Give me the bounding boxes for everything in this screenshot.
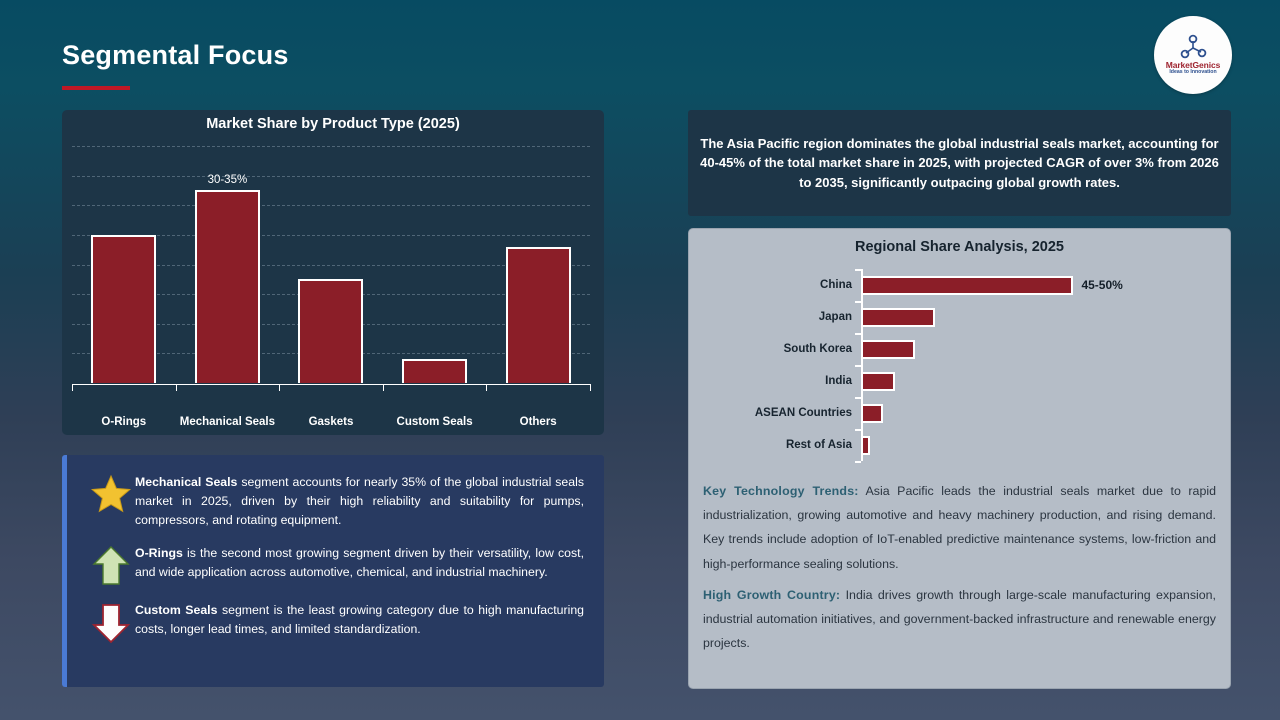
regional-bar[interactable] [861,340,915,359]
regional-analysis-panel: Regional Share Analysis, 2025 China45-50… [688,228,1231,689]
regional-bar-label: South Korea [703,343,861,355]
bar-column[interactable] [385,146,483,383]
segment-insights-panel: Mechanical Seals segment accounts for ne… [62,455,604,687]
bar-value-label: 30-35% [208,174,248,186]
insight-lead: Mechanical Seals [135,475,237,489]
bar-column[interactable] [75,146,173,383]
paragraph-lead: Key Technology Trends: [703,484,859,498]
regional-bar-track [861,365,1216,397]
regional-bar-row[interactable]: India [703,365,1216,397]
x-axis-label: Custom Seals [385,415,483,429]
insight-item: Mechanical Seals segment accounts for ne… [87,473,592,531]
bar[interactable] [91,235,156,383]
x-axis-ticks [72,384,590,391]
page-title: Segmental Focus [62,40,289,71]
right-paragraph: High Growth Country: India drives growth… [703,583,1216,656]
regional-bar[interactable] [861,404,883,423]
regional-bar-label: Japan [703,311,861,323]
x-axis-label: Mechanical Seals [178,415,276,429]
x-axis-label: O-Rings [75,415,173,429]
paragraph-lead: High Growth Country: [703,588,840,602]
bar[interactable] [195,190,260,383]
regional-bar-row[interactable]: Rest of Asia [703,429,1216,461]
regional-bar-label: China [703,279,861,291]
y-axis-tick [855,461,861,463]
regional-bar-label: Rest of Asia [703,439,861,451]
regional-bar[interactable] [861,308,935,327]
bar[interactable] [506,247,571,383]
logo-tagline: Ideas to Innovation [1169,70,1216,76]
right-paragraph: Key Technology Trends: Asia Pacific lead… [703,479,1216,576]
star-icon [87,473,135,515]
insight-item: O-Rings is the second most growing segme… [87,544,592,588]
x-axis-label: Others [489,415,587,429]
regional-callout-box: The Asia Pacific region dominates the gl… [688,110,1231,216]
arrow-down-icon [87,601,135,645]
x-axis-tick [279,384,280,391]
insight-text: O-Rings is the second most growing segme… [135,544,592,582]
network-node-icon [1178,34,1208,60]
regional-bar-track [861,429,1216,461]
regional-bar-label: ASEAN Countries [703,407,861,419]
regional-bar-row[interactable]: South Korea [703,333,1216,365]
callout-text: The Asia Pacific region dominates the gl… [700,134,1219,192]
logo-name: MarketGenics [1166,61,1221,70]
bar-column[interactable] [489,146,587,383]
x-axis-tick [486,384,487,391]
product-type-chart-panel: Market Share by Product Type (2025) 30-3… [62,110,604,435]
regional-bar-label: India [703,375,861,387]
regional-bar-value-label: 45-50% [1081,278,1122,292]
insight-text: Custom Seals segment is the least growin… [135,601,592,639]
regional-text-block: Key Technology Trends: Asia Pacific lead… [703,479,1216,655]
regional-bar-track: 45-50% [861,269,1216,301]
regional-bar-row[interactable]: Japan [703,301,1216,333]
regional-bar-track [861,397,1216,429]
x-axis-tick [72,384,73,391]
insight-lead: O-Rings [135,546,183,560]
insight-item: Custom Seals segment is the least growin… [87,601,592,645]
x-axis-labels: O-RingsMechanical SealsGasketsCustom Sea… [72,415,590,429]
x-axis-tick [176,384,177,391]
bar[interactable] [298,279,363,383]
regional-bar[interactable] [861,436,870,455]
regional-bar-track [861,301,1216,333]
regional-bar-track [861,333,1216,365]
regional-bar[interactable] [861,372,895,391]
regional-bar-series: China45-50%JapanSouth KoreaIndiaASEAN Co… [703,269,1216,461]
product-type-chart-title: Market Share by Product Type (2025) [62,110,604,132]
bar[interactable] [402,359,467,383]
x-axis-tick [590,384,591,391]
regional-chart-title: Regional Share Analysis, 2025 [703,239,1216,255]
product-type-plot-area: 30-35% [72,146,590,383]
x-axis-tick [383,384,384,391]
insight-text: Mechanical Seals segment accounts for ne… [135,473,592,531]
bar-column[interactable] [282,146,380,383]
arrow-up-icon [87,544,135,588]
regional-bar-row[interactable]: China45-50% [703,269,1216,301]
regional-bar-row[interactable]: ASEAN Countries [703,397,1216,429]
title-underline-rule [62,86,130,90]
insight-lead: Custom Seals [135,603,217,617]
brand-logo: MarketGenics Ideas to Innovation [1154,16,1232,94]
regional-bar[interactable] [861,276,1073,295]
x-axis-label: Gaskets [282,415,380,429]
bar-series: 30-35% [72,146,590,383]
bar-column[interactable]: 30-35% [178,146,276,383]
insight-body: is the second most growing segment drive… [135,546,584,579]
